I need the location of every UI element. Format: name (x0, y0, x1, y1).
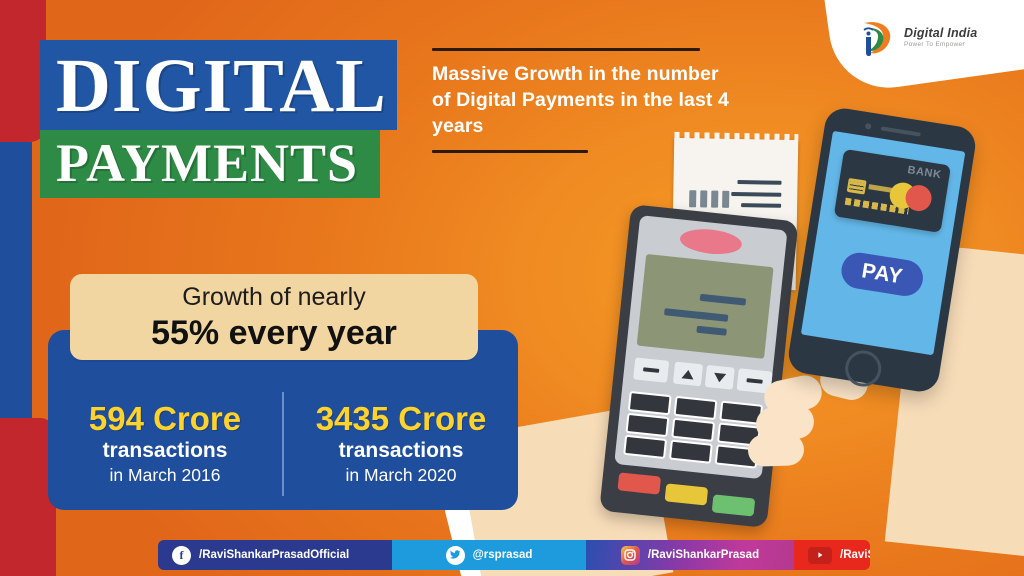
social-media-bar: f /RaviShankarPrasadOfficial @rsprasad /… (158, 540, 870, 570)
finger (747, 433, 804, 467)
card-chip-icon (847, 178, 867, 195)
stat-period: in March 2020 (346, 465, 457, 486)
stat-label: transactions (339, 438, 464, 463)
facebook-icon: f (172, 546, 191, 565)
phone-screen: BANK PAY (801, 131, 966, 355)
pos-keypad-key[interactable] (628, 391, 672, 415)
pos-keypad-key[interactable] (669, 440, 713, 464)
pos-key-left[interactable] (633, 357, 669, 382)
facebook-handle: /RaviShankarPrasadOfficial (199, 549, 349, 561)
social-link-facebook[interactable]: f /RaviShankarPrasadOfficial (158, 540, 392, 570)
title-line-digital: DIGITAL (40, 40, 397, 130)
phone-speaker (881, 126, 921, 136)
instagram-icon (621, 546, 640, 565)
left-ribbon-blue (0, 142, 32, 424)
growth-callout-lead: Growth of nearly (182, 285, 365, 310)
digital-india-logo-text: Digital India Power To Empower (904, 27, 977, 48)
stat-period: in March 2016 (110, 465, 221, 486)
pos-keypad-key[interactable] (623, 435, 667, 459)
stat-2016: 594 Crore transactions in March 2016 (48, 392, 282, 496)
logo-tagline: Power To Empower (904, 42, 977, 48)
pos-keypad-key[interactable] (674, 396, 718, 420)
stat-value: 3435 Crore (316, 402, 487, 437)
pos-clear-key[interactable] (665, 483, 709, 505)
social-link-youtube[interactable]: /RaviShankarPrasadMP (794, 540, 870, 570)
twitter-handle: @rsprasad (473, 549, 533, 561)
twitter-icon (446, 546, 465, 565)
digital-india-emblem-icon (852, 15, 898, 61)
pos-key-down[interactable] (705, 365, 735, 390)
pos-cancel-key[interactable] (617, 472, 661, 494)
stat-value: 594 Crore (89, 402, 241, 437)
pos-terminal-body (599, 204, 798, 528)
subtitle-text: Massive Growth in the number of Digital … (432, 62, 742, 140)
pos-keypad-key[interactable] (625, 413, 669, 437)
bank-card-label: BANK (907, 164, 943, 181)
stat-divider (282, 392, 284, 496)
phone-camera-icon (865, 123, 872, 130)
social-link-twitter[interactable]: @rsprasad (392, 540, 586, 570)
pos-key-up[interactable] (673, 362, 703, 387)
infographic-canvas: Digital India Power To Empower DIGITAL P… (0, 0, 1024, 576)
youtube-handle: /RaviShankarPrasadMP (840, 549, 870, 561)
page-title: DIGITAL PAYMENTS (40, 40, 397, 198)
pay-button[interactable]: PAY (839, 250, 926, 298)
logo-title: Digital India (904, 27, 977, 40)
subtitle-rule-top (432, 48, 700, 51)
stat-label: transactions (103, 438, 228, 463)
title-line-payments: PAYMENTS (40, 130, 380, 198)
growth-callout-figure: 55% every year (151, 316, 397, 350)
social-link-instagram[interactable]: /RaviShankarPrasad (586, 540, 794, 570)
pos-indicator-lamp (679, 226, 743, 256)
digital-india-logo: Digital India Power To Empower (852, 13, 1002, 63)
pos-keypad-key[interactable] (671, 418, 715, 442)
pos-enter-key[interactable] (712, 494, 756, 516)
subtitle-rule-bottom (432, 150, 588, 153)
instagram-handle: /RaviShankarPrasad (648, 549, 759, 561)
stat-2020: 3435 Crore transactions in March 2020 (284, 392, 518, 496)
pay-button-label: PAY (860, 259, 904, 289)
youtube-icon (808, 547, 832, 564)
stats-row: 594 Crore transactions in March 2016 343… (48, 392, 518, 510)
bank-card-icon: BANK (834, 149, 951, 233)
pos-screen (637, 254, 774, 359)
growth-callout: Growth of nearly 55% every year (70, 274, 478, 360)
